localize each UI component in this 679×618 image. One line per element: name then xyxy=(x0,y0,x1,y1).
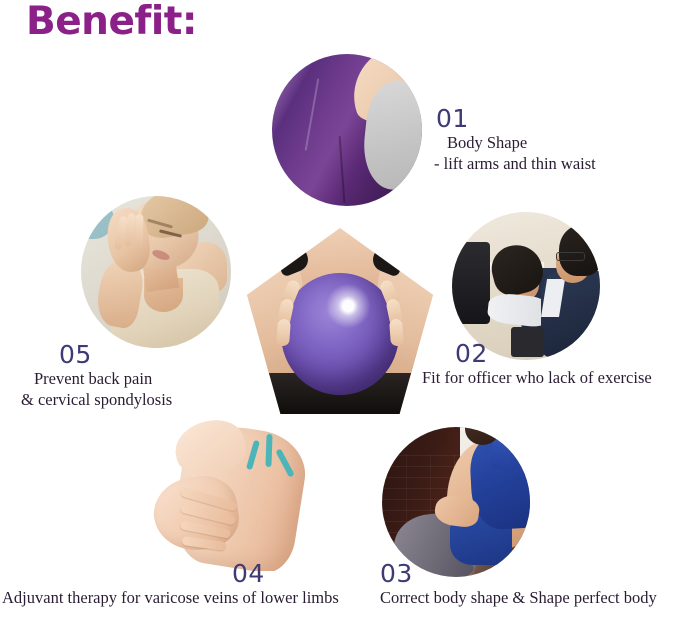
benefit-image-05 xyxy=(81,196,231,348)
benefit-number-03: 03 xyxy=(380,560,657,587)
benefit-callout-04: 04 Adjuvant therapy for varicose veins o… xyxy=(158,560,339,608)
benefit-number-01: 01 xyxy=(436,105,596,132)
benefit-text-01-line-1: Body Shape xyxy=(447,132,596,153)
benefit-image-02 xyxy=(452,212,600,360)
benefit-callout-01: 01 Body Shape - lift arms and thin waist xyxy=(436,105,596,174)
tired-office-workers-photo xyxy=(452,212,600,360)
benefit-callout-03: 03 Correct body shape & Shape perfect bo… xyxy=(380,560,657,608)
benefit-text-03-line-1: Correct body shape & Shape perfect body xyxy=(380,587,657,608)
finger xyxy=(389,319,404,347)
benefit-text-05-line-2: & cervical spondylosis xyxy=(21,389,172,410)
woman-exercising-blue-top-photo xyxy=(382,427,530,577)
benefit-text-04-line-1: Adjuvant therapy for varicose veins of l… xyxy=(2,587,339,608)
benefit-number-04: 04 xyxy=(158,560,339,587)
benefit-callout-05: 05 Prevent back pain & cervical spondylo… xyxy=(59,341,172,410)
finger xyxy=(276,319,291,347)
benefit-text-01-line-2: - lift arms and thin waist xyxy=(434,153,596,174)
benefit-number-02: 02 xyxy=(455,340,652,367)
benefit-callout-02: 02 Fit for officer who lack of exercise xyxy=(455,340,652,388)
purple-leggings-hips-photo xyxy=(272,54,422,206)
benefit-text-05-line-1: Prevent back pain xyxy=(34,368,172,389)
benefit-image-01 xyxy=(272,54,422,206)
woman-with-headache-photo xyxy=(81,196,231,348)
worker-two-head xyxy=(559,225,600,275)
glasses-icon xyxy=(556,252,586,261)
benefit-number-05: 05 xyxy=(59,341,172,368)
monitor-shape xyxy=(452,242,490,325)
benefit-image-04 xyxy=(150,419,326,571)
benefit-text-02-line-1: Fit for officer who lack of exercise xyxy=(422,367,652,388)
page-title: Benefit: xyxy=(26,0,197,44)
center-pentagon-image xyxy=(247,228,433,414)
hand-massaging-calf-photo xyxy=(150,419,326,571)
benefit-image-03 xyxy=(382,427,530,577)
benefit-infographic: Benefit: xyxy=(0,0,679,618)
finger xyxy=(134,214,143,248)
